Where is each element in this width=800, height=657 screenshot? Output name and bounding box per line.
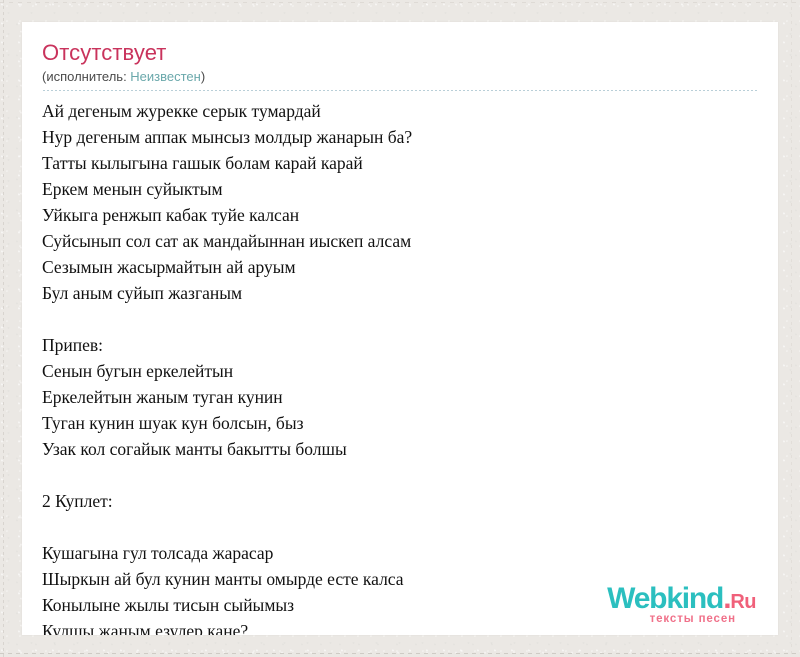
artist-label: (исполнитель: — [42, 69, 130, 84]
lyrics-text: Ай дегеным журекке серык тумардай Нур де… — [22, 91, 778, 635]
page-edge-right — [791, 0, 792, 657]
artist-label-suffix: ) — [201, 69, 205, 84]
song-header: Отсутствует (исполнитель: Неизвестен) — [22, 22, 778, 91]
page-edge-top — [0, 2, 800, 3]
watermark-kind: kind — [666, 582, 723, 615]
page-edge-bottom — [0, 653, 800, 654]
artist-line: (исполнитель: Неизвестен) — [42, 69, 760, 85]
watermark-tld: Ru — [730, 591, 756, 613]
watermark-web: Web — [607, 582, 666, 615]
song-content-panel: Отсутствует (исполнитель: Неизвестен) Ай… — [22, 22, 778, 635]
watermark-wordmark: Webkind.Ru — [607, 584, 756, 617]
artist-link[interactable]: Неизвестен — [130, 69, 201, 84]
site-watermark: Webkind.Ru тексты песен — [607, 584, 756, 626]
page-title: Отсутствует — [42, 40, 760, 66]
page-edge-left — [3, 0, 4, 657]
